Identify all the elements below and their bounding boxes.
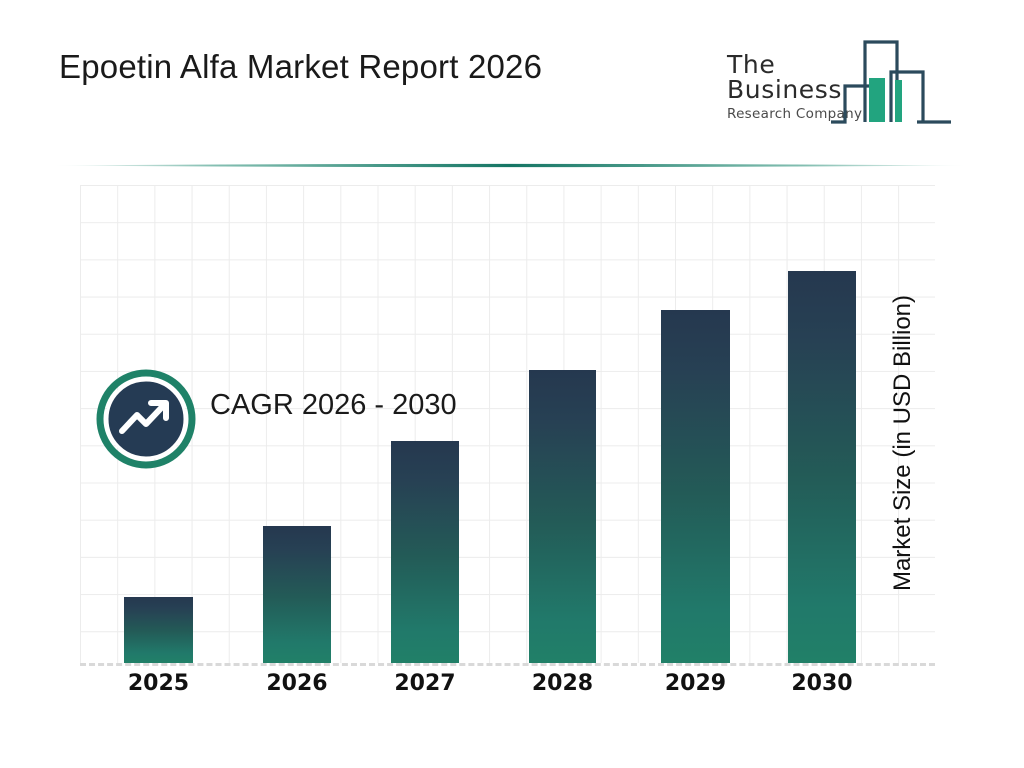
- x-label-2027: 2027: [365, 671, 485, 696]
- x-axis-labels: 2025 2026 2027 2028 2029 2030: [80, 671, 935, 711]
- bar-chart: 2025 2026 2027 2028 2029 2030 Market Siz…: [0, 163, 1024, 768]
- cagr-label: CAGR 2026 - 2030: [210, 389, 457, 422]
- cagr-callout: CAGR 2026 - 2030: [96, 369, 496, 471]
- x-label-2026: 2026: [237, 671, 357, 696]
- chart-page: Epoetin Alfa Market Report 2026 The Busi…: [0, 0, 1024, 768]
- company-logo: The Business Research Company: [727, 34, 969, 126]
- x-label-2030: 2030: [762, 671, 882, 696]
- y-axis-label: Market Size (in USD Billion): [889, 0, 929, 253]
- bar-2026[interactable]: [263, 526, 331, 663]
- x-label-2029: 2029: [636, 671, 756, 696]
- bar-2029[interactable]: [661, 310, 730, 663]
- y-axis-label-text: Market Size (in USD Billion): [889, 263, 917, 623]
- header-divider: [50, 156, 970, 163]
- bar-2027[interactable]: [391, 441, 459, 663]
- bar-2030[interactable]: [788, 271, 856, 663]
- bar-2028[interactable]: [529, 370, 596, 663]
- x-label-2025: 2025: [99, 671, 219, 696]
- page-title: Epoetin Alfa Market Report 2026: [59, 48, 542, 86]
- header: Epoetin Alfa Market Report 2026 The Busi…: [0, 0, 1024, 160]
- x-axis-baseline: [80, 663, 935, 666]
- x-label-2028: 2028: [503, 671, 623, 696]
- bar-2025[interactable]: [124, 597, 193, 663]
- trending-up-icon: [96, 369, 196, 469]
